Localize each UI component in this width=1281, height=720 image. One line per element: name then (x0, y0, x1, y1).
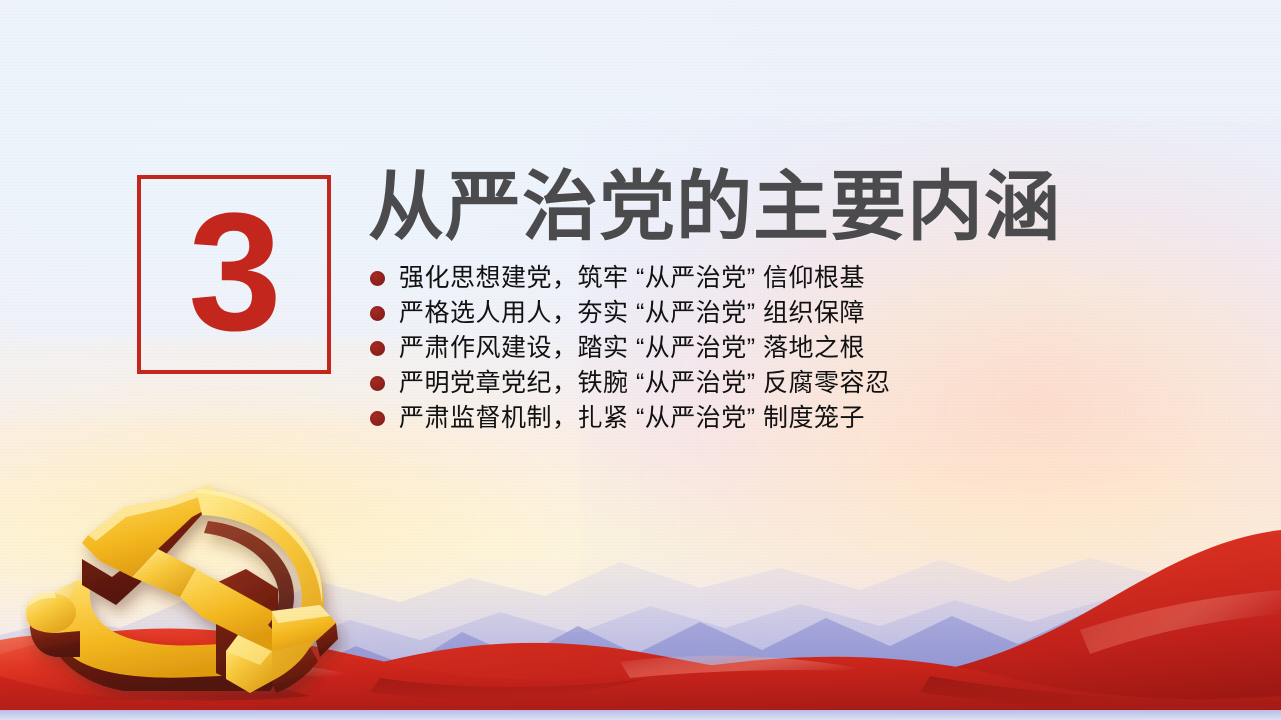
list-item: 严明党章党纪，铁腕 “从严治党” 反腐零容忍 (370, 367, 1050, 400)
cpc-hammer-sickle-emblem (20, 465, 360, 700)
emblem-group (26, 485, 338, 693)
list-item-label: 严肃监督机制，扎紧 “从严治党” 制度笼子 (399, 406, 865, 431)
list-item: 严格选人用人，夯实 “从严治党” 组织保障 (370, 297, 1050, 330)
bullet-dot-icon (370, 411, 385, 426)
list-item-label: 严明党章党纪，铁腕 “从严治党” 反腐零容忍 (399, 371, 891, 396)
bullet-dot-icon (370, 271, 385, 286)
bullet-dot-icon (370, 306, 385, 321)
list-item-label: 严肃作风建设，踏实 “从严治党” 落地之根 (399, 336, 865, 361)
list-item: 严肃作风建设，踏实 “从严治党” 落地之根 (370, 332, 1050, 365)
list-item: 强化思想建党，筑牢 “从严治党” 信仰根基 (370, 262, 1050, 295)
bullet-list: 强化思想建党，筑牢 “从严治党” 信仰根基 严格选人用人，夯实 “从严治党” 组… (370, 262, 1050, 437)
bottom-accent-strip (0, 710, 1281, 720)
page-title: 从严治党的主要内涵 (368, 168, 1061, 249)
bullet-dot-icon (370, 376, 385, 391)
list-item-label: 强化思想建党，筑牢 “从严治党” 信仰根基 (399, 266, 865, 291)
slide-canvas: 3 从严治党的主要内涵 强化思想建党，筑牢 “从严治党” 信仰根基 严格选人用人… (0, 0, 1281, 720)
list-item: 严肃监督机制，扎紧 “从严治党” 制度笼子 (370, 402, 1050, 435)
section-number: 3 (141, 187, 327, 355)
bullet-dot-icon (370, 341, 385, 356)
section-number-badge: 3 (137, 175, 331, 374)
list-item-label: 严格选人用人，夯实 “从严治党” 组织保障 (399, 301, 865, 326)
